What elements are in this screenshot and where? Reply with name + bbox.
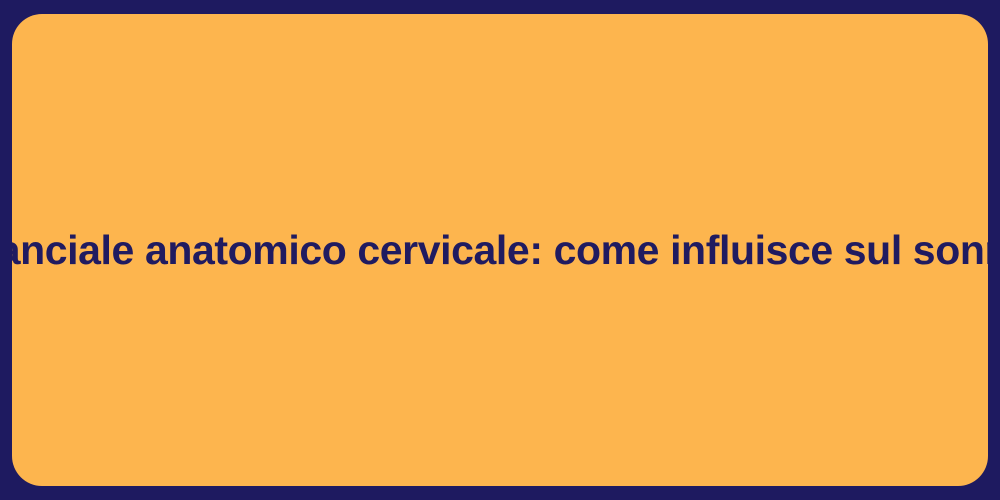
banner-frame: Guanciale anatomico cervicale: come infl… — [0, 0, 1000, 500]
banner-content: Guanciale anatomico cervicale: come infl… — [12, 226, 988, 274]
banner-card: Guanciale anatomico cervicale: come infl… — [12, 14, 988, 486]
page-title: Guanciale anatomico cervicale: come infl… — [12, 226, 988, 274]
